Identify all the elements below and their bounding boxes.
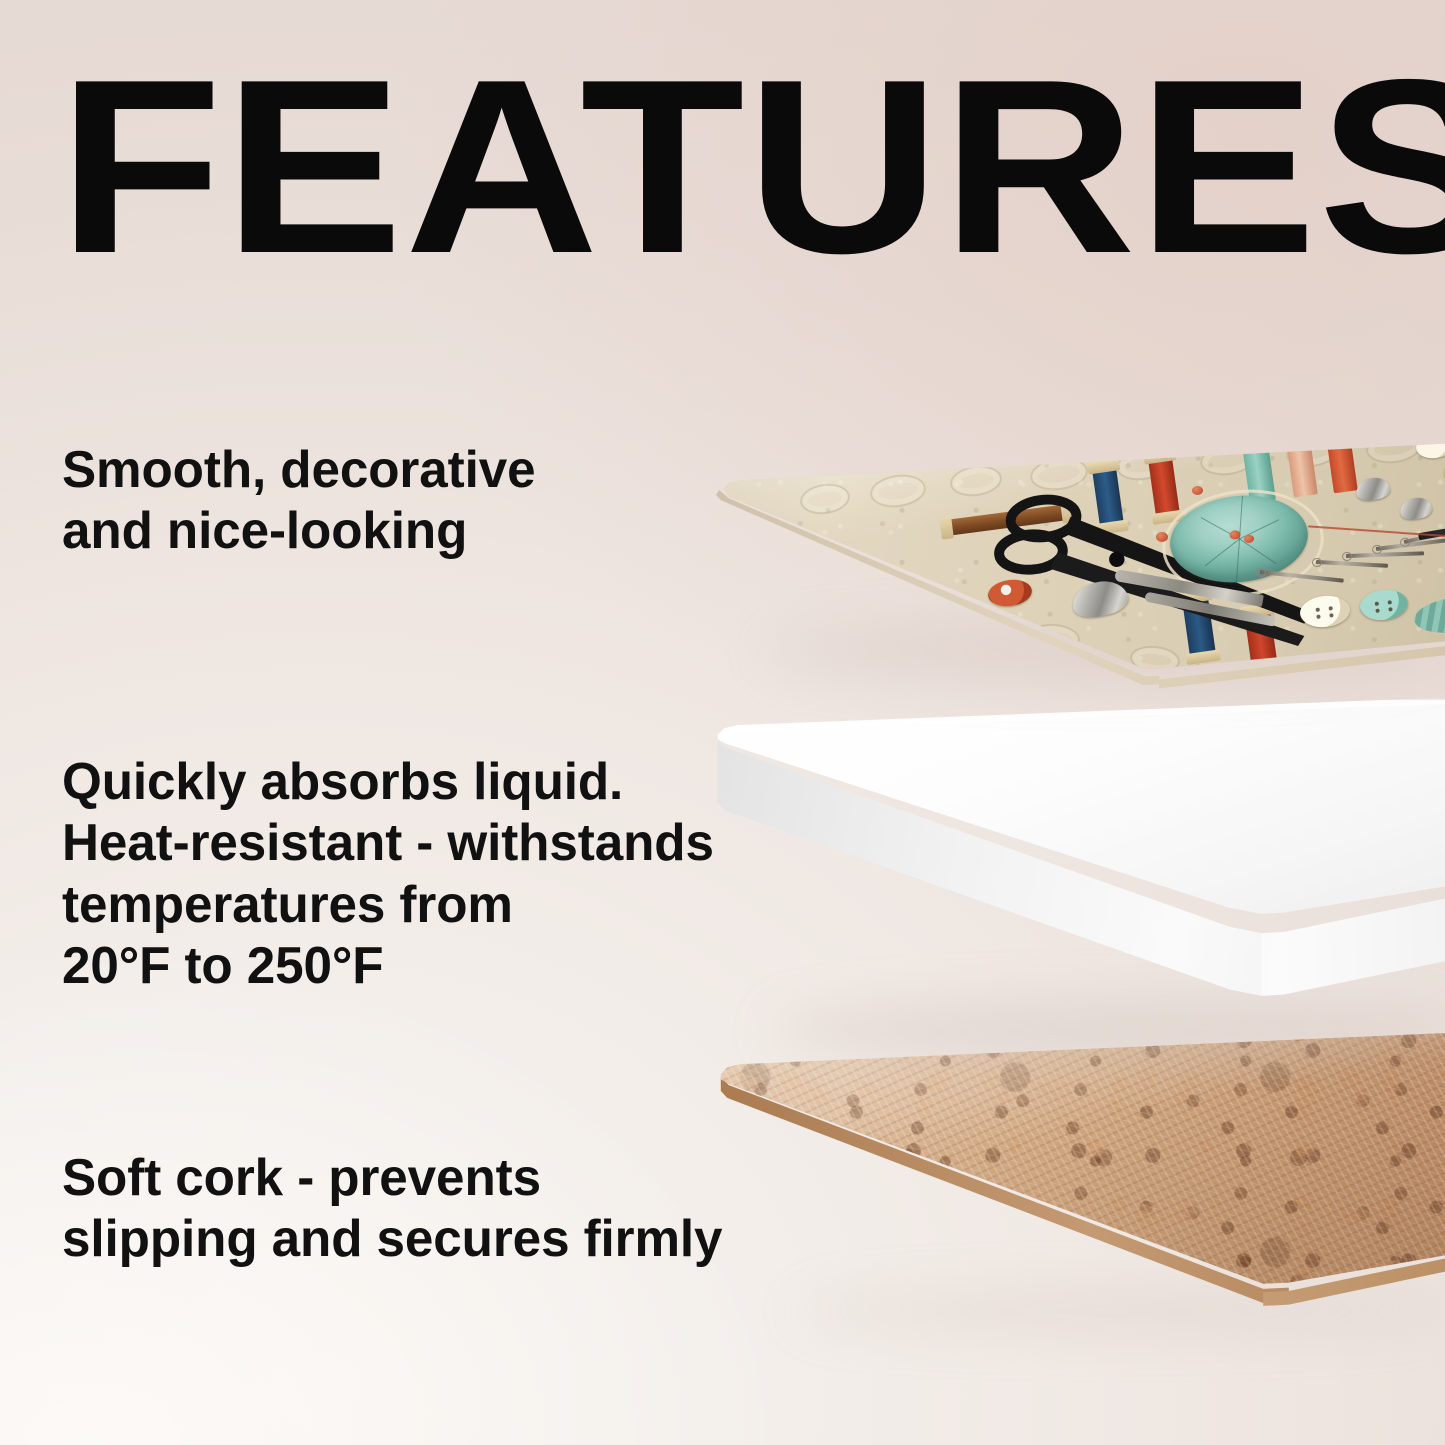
product-exploded-view [0, 0, 1445, 1445]
button-hole [1316, 615, 1320, 619]
button-hole [1388, 600, 1392, 604]
swirl-icon [868, 471, 928, 510]
product-layer-middle-stone [700, 700, 1445, 1080]
product-layer-top-decorative-tile [700, 440, 1445, 715]
button-hole [1329, 613, 1333, 617]
swirl-icon [1364, 440, 1424, 467]
button-hole [1388, 607, 1392, 611]
cork-drop-shadow [790, 1288, 1445, 1334]
button-hole [1329, 606, 1333, 610]
swirl-icon [948, 463, 1004, 500]
button-hole [1375, 609, 1379, 613]
button-hole [1316, 608, 1320, 612]
pin-head [1156, 532, 1168, 542]
swirl-icon [798, 481, 852, 518]
pin-head [1192, 486, 1203, 495]
button-hole [1375, 602, 1379, 606]
product-feature-poster: FEATURES Smooth, decorative and nice-loo… [0, 0, 1445, 1445]
slab-drop-shadow [770, 1000, 1445, 1062]
